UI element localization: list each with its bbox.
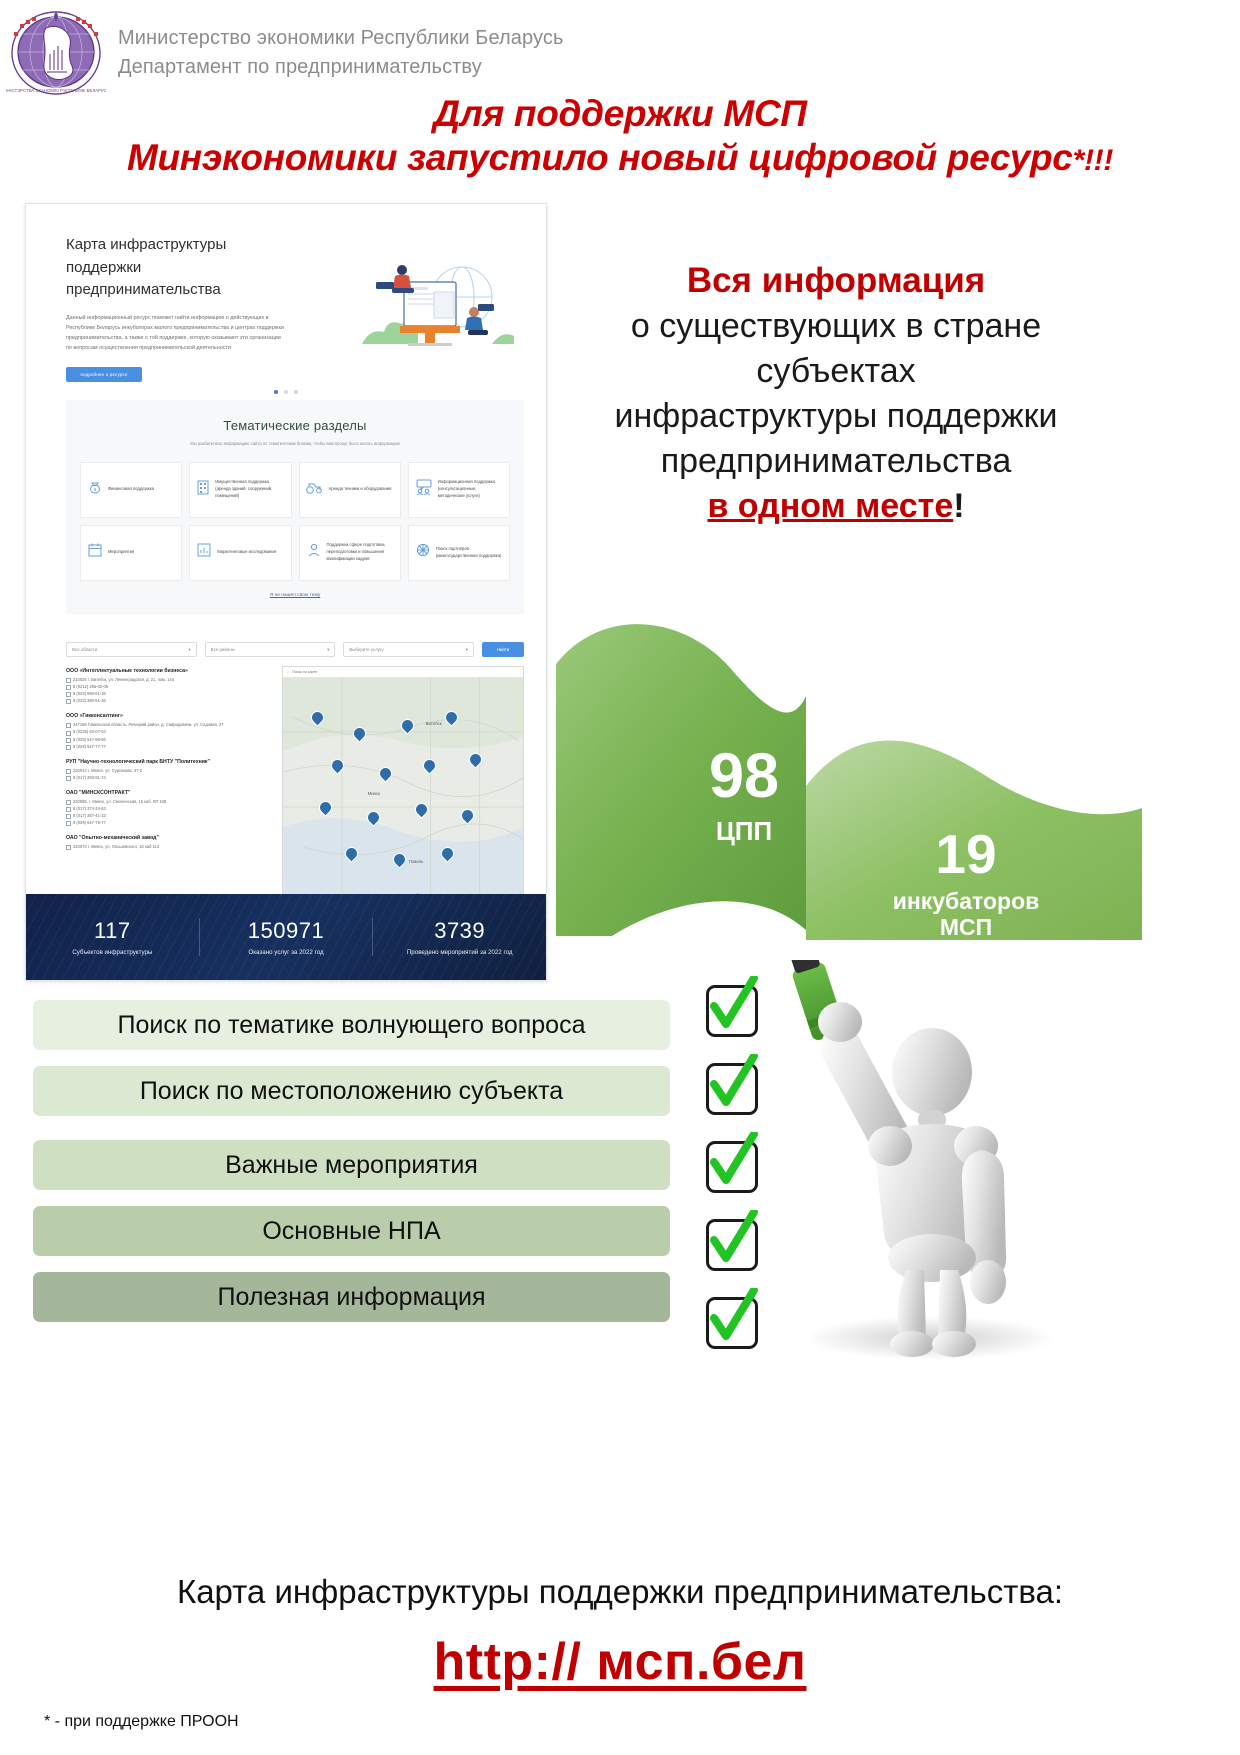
green-wave-stats: 98 ЦПП 19 инкубаторов МСП (556, 600, 1176, 940)
feature-bar-events[interactable]: Важные мероприятия (33, 1140, 670, 1190)
title-asterisk: *!!! (1073, 144, 1113, 177)
title-line-1: Для поддержки МСП (0, 92, 1240, 136)
thematic-card[interactable]: Поиск партнёров (межгосударственная подд… (408, 525, 510, 581)
organization-detail: 8 (017) 293-91-74 (66, 774, 274, 781)
thematic-cards-grid: $ Финансовая поддержка Имущественная под… (80, 462, 510, 581)
building-icon (196, 479, 210, 500)
thematic-card[interactable]: Маркетинговые исследования (189, 525, 291, 581)
thematic-card-label: Информационная поддержка (консультационн… (438, 479, 503, 499)
list-item[interactable]: ОАО "Опытно-механический завод" 220073 г… (66, 835, 274, 850)
screenshot-hero: Карта инфраструктуры поддержки предприни… (26, 204, 546, 382)
district-select[interactable]: Все районы▾ (205, 642, 336, 657)
stat-item: 3739 Проведено мероприятий за 2022 год (373, 918, 546, 956)
search-button[interactable]: Найти (482, 642, 524, 657)
organization-detail: 220073 г. Минск, ул. Ольшевского, 10 каб… (66, 843, 274, 850)
organization-detail: 8 (033) 390-61-36 (66, 697, 274, 704)
organization-detail: 8 (029) 547-77-77 (66, 743, 274, 750)
thematic-sections-heading: Тематические разделы (80, 418, 510, 433)
thematic-sections-block: Тематические разделы Мы разбили всю инфо… (66, 400, 524, 614)
chart-icon (196, 542, 212, 563)
organization-detail: 220013 г. Минск, ул. Сурганова, 37-2 (66, 767, 274, 774)
search-icon: ⌕ (287, 670, 289, 674)
thematic-card-label: Имущественная поддержка (аренда зданий, … (215, 479, 284, 499)
statistics-bar: 117 Субъектов инфраструктуры 150971 Оказ… (26, 894, 546, 980)
footnote: * - при поддержке ПРООН (44, 1713, 239, 1731)
feature-bar-search-location[interactable]: Поиск по местоположению субъекта (33, 1066, 670, 1116)
stat-value: 117 (26, 918, 199, 944)
thematic-card[interactable]: Мероприятия (80, 525, 182, 581)
right-place-text: в одном месте (707, 487, 953, 525)
organization-name: ОАО "МИНСКСОНТРАКТ" (66, 790, 274, 798)
feature-bar-useful-info[interactable]: Полезная информация (33, 1272, 670, 1322)
screenshot-hero-paragraph: Данный информационный ресурс поможет най… (66, 313, 284, 353)
thematic-card-label: Поддержка сфере подготовки, переподготов… (327, 542, 394, 562)
thematic-card-label: Мероприятия (108, 549, 134, 556)
svg-text:Гомель: Гомель (409, 859, 424, 864)
ministry-line-2: Департамент по предпринимательству (118, 53, 564, 82)
organization-results-list: ООО «Интеллектуальные технологии бизнеса… (66, 668, 274, 859)
organization-detail: 8 (029) 547-88-66 (66, 736, 274, 743)
district-select-value: Все районы (211, 647, 235, 652)
bottom-caption: Карта инфраструктуры поддержки предприни… (0, 1573, 1240, 1611)
organization-detail: 8 (017) 387-41-32 (66, 812, 274, 819)
organization-detail: 8 (029) 890-61-36 (66, 690, 274, 697)
right-body-line-3: инфраструктуры поддержки (556, 394, 1116, 439)
right-body-line-4: предпринимательства (556, 439, 1116, 484)
svg-text:Минск: Минск (368, 791, 381, 796)
tractor-icon (306, 480, 324, 499)
right-body-line-1: о существующих в стране (556, 304, 1116, 349)
thematic-card[interactable]: $ Финансовая поддержка (80, 462, 182, 518)
chevron-down-icon: ▾ (466, 647, 468, 653)
right-highlight: Вся информация (556, 258, 1116, 304)
title-line-2-text: Минэкономики запустило новый цифровой ре… (127, 137, 1073, 178)
organization-detail: 210026 г. Витебск, ул. Ленинградская, д.… (66, 676, 274, 683)
wave-2-label-line-1: инкубаторов (841, 888, 1091, 914)
thematic-card-label: Аренда техники и оборудования (329, 486, 392, 493)
mannequin-figure-icon (740, 960, 1120, 1360)
search-filters: Все области▾ Все районы▾ Выберите услугу… (66, 642, 524, 657)
feature-bar-search-topic[interactable]: Поиск по тематике волнующего вопроса (33, 1000, 670, 1050)
page-header: МIНIСТЭРСТВА ЭКАНОМIКI РЭСПУБЛIКI БЕЛАРУ… (0, 0, 1240, 92)
list-item[interactable]: ООО «Интеллектуальные технологии бизнеса… (66, 668, 274, 704)
stat-item: 150971 Оказано услуг за 2022 год (200, 918, 374, 956)
carousel-dot-3[interactable] (294, 390, 298, 394)
list-item[interactable]: ОАО "МИНСКСОНТРАКТ" 220088, г. Минск, ул… (66, 790, 274, 826)
right-exclamation: ! (953, 487, 964, 525)
right-place-line: в одном месте! (556, 484, 1116, 529)
region-select-value: Все области (72, 647, 97, 652)
stat-value: 150971 (200, 918, 373, 944)
ministry-line-1: Министерство экономики Республики Белару… (118, 24, 564, 53)
stat-item: 117 Субъектов инфраструктуры (26, 918, 200, 956)
thematic-card-label: Поиск партнёров (межгосударственная подд… (436, 546, 503, 559)
feature-bar-npa[interactable]: Основные НПА (33, 1206, 670, 1256)
page-title: Для поддержки МСП Минэкономики запустило… (0, 92, 1240, 179)
no-topic-link[interactable]: Я не нашёл свою тему (80, 593, 510, 598)
ministry-title-block: Министерство экономики Республики Белару… (118, 24, 564, 82)
thematic-card[interactable]: Аренда техники и оборудования (299, 462, 401, 518)
site-url[interactable]: http:// мсп.бел (0, 1632, 1240, 1692)
feature-bars: Поиск по тематике волнующего вопроса Пои… (33, 1000, 670, 1338)
network-icon (415, 542, 431, 563)
region-select[interactable]: Все области▾ (66, 642, 197, 657)
svg-text:$: $ (94, 487, 97, 492)
organization-name: ООО «Интеллектуальные технологии бизнеса… (66, 668, 274, 676)
thematic-card[interactable]: Информационная поддержка (консультационн… (408, 462, 510, 518)
title-line-2: Минэкономики запустило новый цифровой ре… (0, 136, 1240, 180)
wave-2-number: 19 (876, 827, 1056, 882)
interactive-map[interactable]: ⌕ Поиск по карте Минск Витебск Гомель (282, 666, 524, 900)
hero-illustration-icon (342, 252, 522, 362)
thematic-card[interactable]: Имущественная поддержка (аренда зданий, … (189, 462, 291, 518)
thematic-card[interactable]: Поддержка сфере подготовки, переподготов… (299, 525, 401, 581)
website-screenshot-preview[interactable]: Карта инфраструктуры поддержки предприни… (25, 203, 547, 981)
list-item[interactable]: ООО «Гикконсалтинг» 247159 Гомельская об… (66, 713, 274, 749)
thematic-sections-subtitle: Мы разбили всю информацию сайта по темат… (80, 440, 510, 448)
thematic-card-label: Финансовая поддержка (108, 486, 154, 493)
stat-caption: Проведено мероприятий за 2022 год (373, 949, 546, 956)
list-item[interactable]: РУП "Научно-технологический парк БНТУ "П… (66, 759, 274, 781)
carousel-dot-2[interactable] (284, 390, 288, 394)
handshake-icon (306, 542, 322, 563)
consult-icon (415, 479, 433, 500)
money-bag-icon: $ (87, 479, 103, 500)
organization-name: ОАО "Опытно-механический завод" (66, 835, 274, 843)
organization-detail: 8 (0212) 256-02-06 (66, 683, 274, 690)
organization-detail: 247159 Гомельская область, Речицкий райо… (66, 721, 274, 728)
carousel-dot-1[interactable] (274, 390, 278, 394)
organization-detail: 8 (029) 647-79-77 (66, 819, 274, 826)
site-url-text[interactable]: http:// мсп.бел (434, 1633, 807, 1691)
organization-name: РУП "Научно-технологический парк БНТУ "П… (66, 759, 274, 767)
chevron-down-icon: ▾ (327, 647, 329, 653)
service-select[interactable]: Выберите услугу▾ (343, 642, 474, 657)
carousel-dots[interactable] (26, 390, 546, 394)
screenshot-hero-heading: Карта инфраструктуры поддержки предприни… (66, 234, 296, 302)
wave-2-label: инкубаторов МСП (841, 888, 1091, 941)
right-body-line-2: субъектах (556, 349, 1116, 394)
ministry-emblem-icon: МIНIСТЭРСТВА ЭКАНОМIКI РЭСПУБЛIКI БЕЛАРУ… (6, 8, 106, 96)
organization-name: ООО «Гикконсалтинг» (66, 713, 274, 721)
organization-detail: 220088, г. Минск, ул. Смоленская, 15 каб… (66, 798, 274, 805)
map-search-placeholder: Поиск по карте (292, 670, 317, 674)
organization-detail: 8 (0236) 53-07-54 (66, 728, 274, 735)
organization-detail: 8 (017) 374-34-63 (66, 805, 274, 812)
chevron-down-icon: ▾ (188, 647, 190, 653)
calendar-icon (87, 542, 103, 563)
stat-caption: Оказано услуг за 2022 год (200, 949, 373, 956)
service-select-value: Выберите услугу (349, 647, 383, 652)
stat-value: 3739 (373, 918, 546, 944)
thematic-card-label: Маркетинговые исследования (217, 549, 276, 556)
wave-1-label: ЦПП (674, 818, 814, 844)
svg-text:Витебск: Витебск (426, 721, 442, 726)
wave-2-label-line-2: МСП (841, 914, 1091, 940)
screenshot-more-button[interactable]: подробнее о ресурсе (66, 367, 142, 382)
wave-1-number: 98 (674, 745, 814, 808)
stat-caption: Субъектов инфраструктуры (26, 949, 199, 956)
right-info-block: Вся информация о существующих в стране с… (556, 258, 1116, 529)
